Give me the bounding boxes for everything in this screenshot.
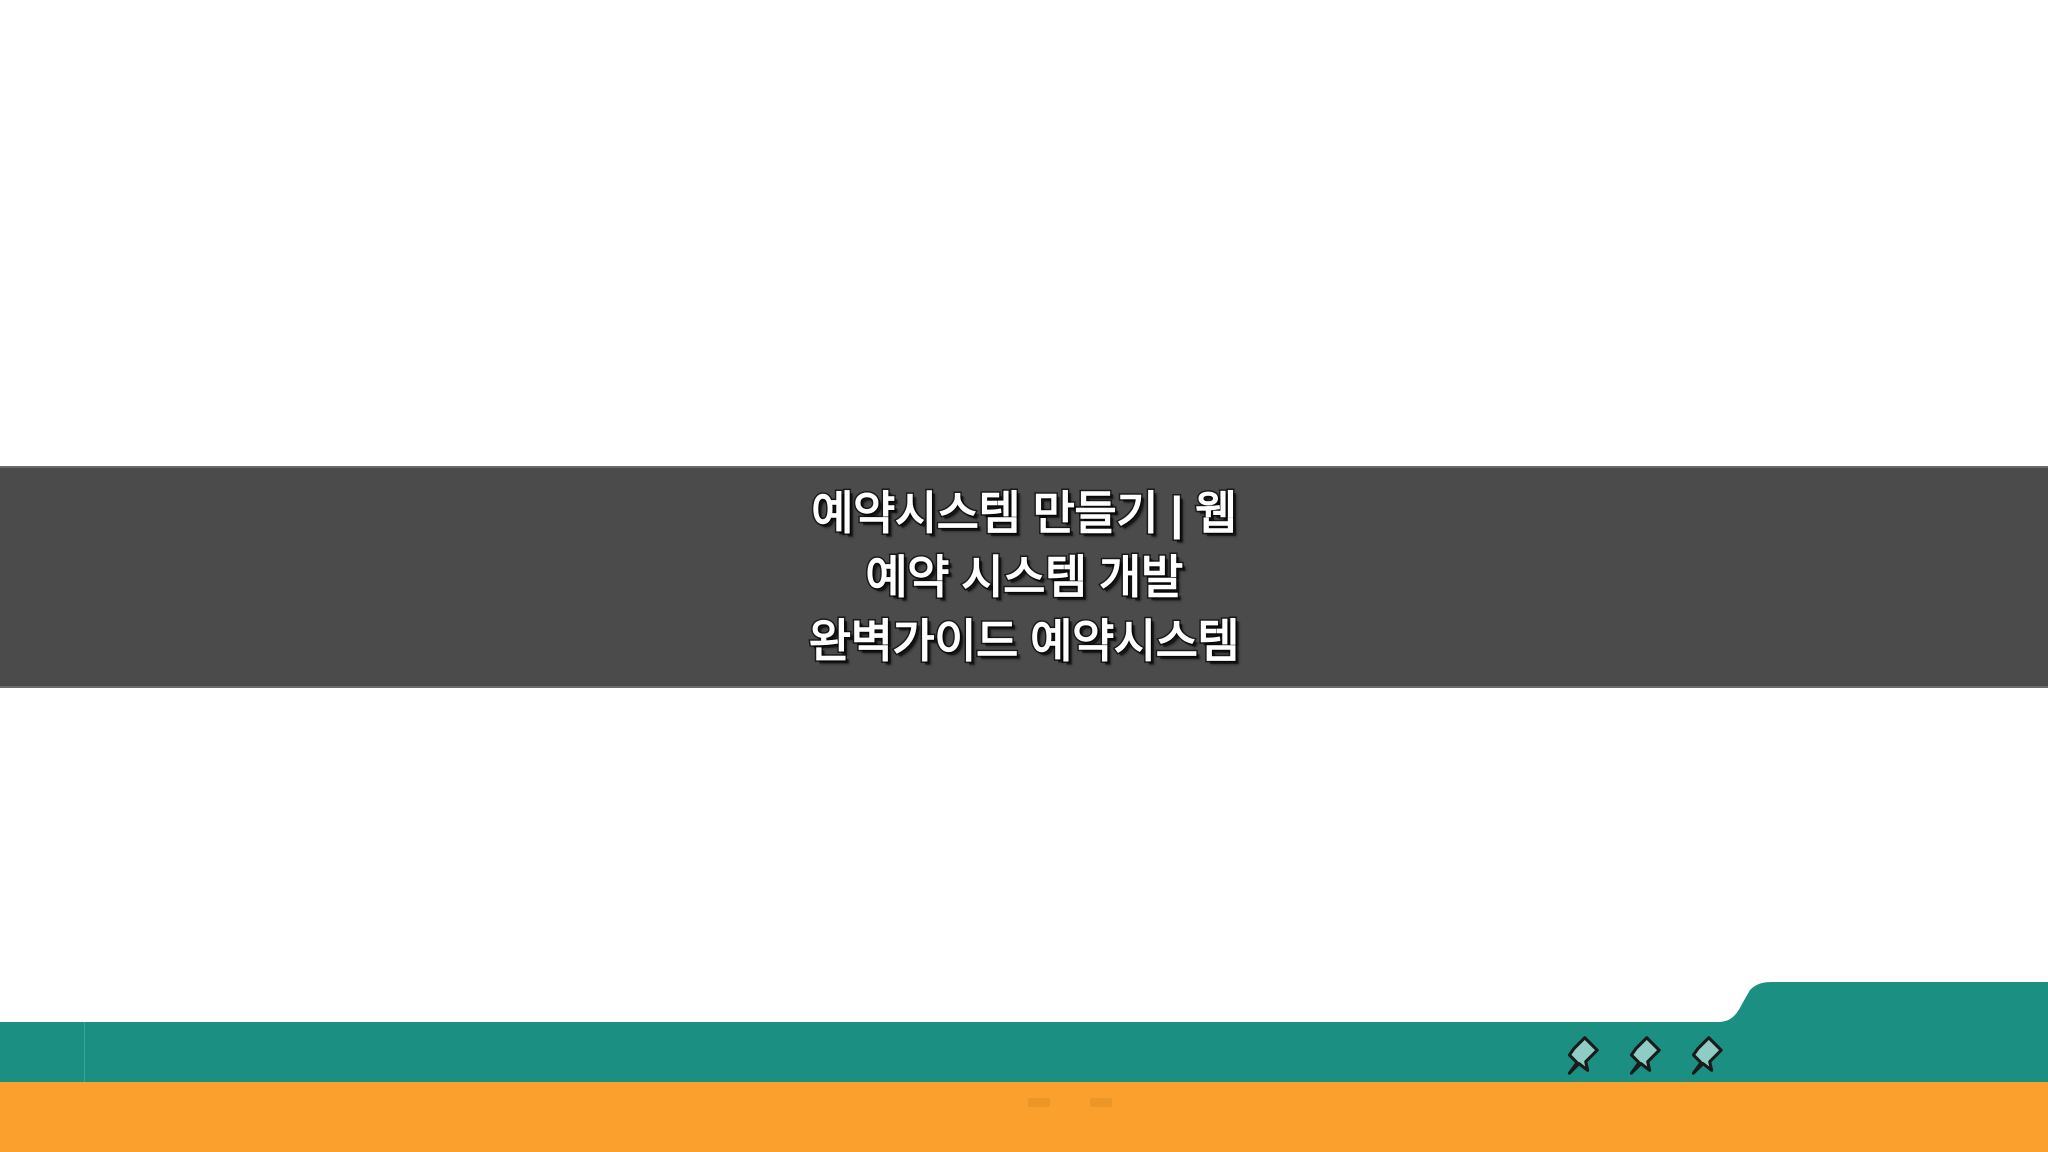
orange-band — [0, 1082, 2048, 1152]
faint-artifact-1 — [1028, 1098, 1050, 1107]
faint-artifact-2 — [1090, 1098, 1112, 1107]
pushpin-icon-1[interactable] — [1556, 1032, 1602, 1078]
pushpin-icon-3[interactable] — [1680, 1032, 1726, 1078]
panel-divider — [84, 1022, 85, 1082]
blank-canvas-top — [0, 0, 2048, 466]
title-line-3: 완벽가이드 예약시스템 — [809, 609, 1239, 673]
title-line-1: 예약시스템 만들기 | 웹 — [811, 481, 1237, 545]
title-line-2: 예약 시스템 개발 — [865, 545, 1182, 609]
title-banner: 예약시스템 만들기 | 웹 예약 시스템 개발 완벽가이드 예약시스템 — [0, 466, 2048, 688]
pushpin-icon-row — [1556, 1028, 1736, 1082]
pushpin-icon-2[interactable] — [1618, 1032, 1664, 1078]
page-root: 예약시스템 만들기 | 웹 예약 시스템 개발 완벽가이드 예약시스템 — [0, 0, 2048, 1152]
